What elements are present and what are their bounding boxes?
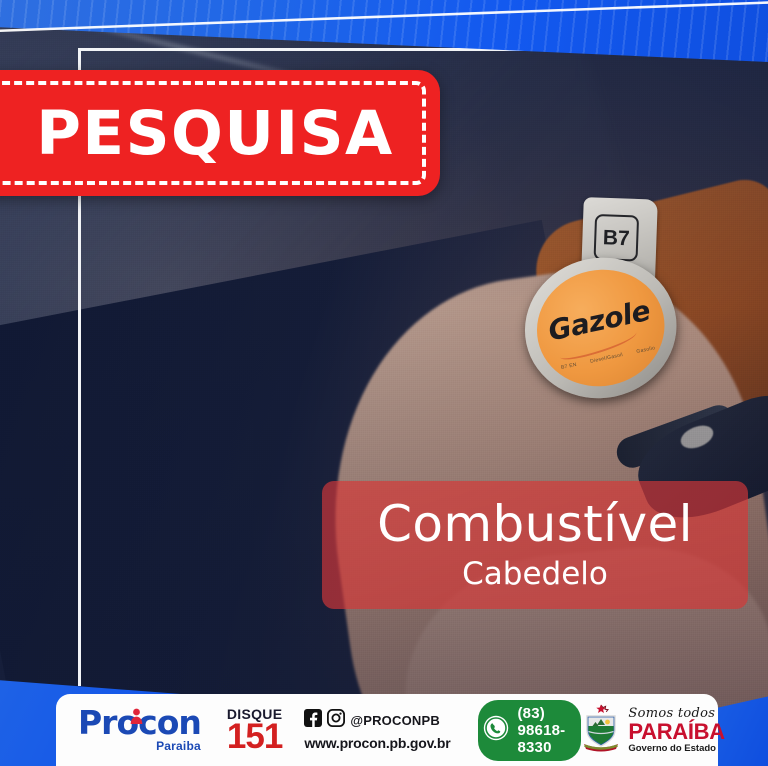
website-url[interactable]: www.procon.pb.gov.br <box>304 735 450 751</box>
paraiba-coat-of-arms-icon <box>581 704 621 757</box>
procon-wordmark: Procon <box>78 708 201 738</box>
social-handle-row: @PROCONPB <box>304 709 450 732</box>
fineprint-1: B7 EN <box>561 362 578 371</box>
disque-number: 151 <box>227 719 282 754</box>
procon-logo: Procon Paraiba <box>78 708 201 753</box>
government-text: Somos todos PARAÍBA Governo do Estado <box>628 707 725 754</box>
government-logo: Somos todos PARAÍBA Governo do Estado <box>581 704 731 757</box>
poster-canvas: B7 Gazole B7 EN Diesel/Gasoil Gasolio PE… <box>0 0 768 766</box>
page-title: Combustível <box>377 498 693 551</box>
disque-block: DISQUE 151 <box>227 707 282 754</box>
gov-state-name: PARAÍBA <box>628 721 725 743</box>
procon-person-icon <box>128 699 145 716</box>
page-subtitle: Cabedelo <box>462 556 608 592</box>
footer-bar: Procon Paraiba DISQUE 151 <box>56 694 718 766</box>
instagram-icon[interactable] <box>327 709 345 732</box>
fineprint-3: Gasolio <box>636 345 656 355</box>
pesquisa-label: PESQUISA <box>12 98 394 169</box>
fuel-grade-code: B7 <box>594 214 640 262</box>
gov-somos-todos: Somos todos <box>628 707 725 720</box>
social-block: @PROCONPB www.procon.pb.gov.br <box>304 709 450 751</box>
whatsapp-phone: (83) 98618-8330 <box>517 705 565 756</box>
gov-sublabel: Governo do Estado <box>628 744 725 754</box>
whatsapp-icon <box>483 715 509 746</box>
social-handle: @PROCONPB <box>350 713 440 728</box>
title-banner: Combustível Cabedelo <box>322 481 748 609</box>
whatsapp-badge[interactable]: (83) 98618-8330 <box>478 700 581 761</box>
pesquisa-badge: PESQUISA <box>0 70 440 196</box>
fuel-cap-label: B7 Gazole B7 EN Diesel/Gasoil Gasolio <box>489 187 716 422</box>
facebook-icon[interactable] <box>304 709 322 732</box>
